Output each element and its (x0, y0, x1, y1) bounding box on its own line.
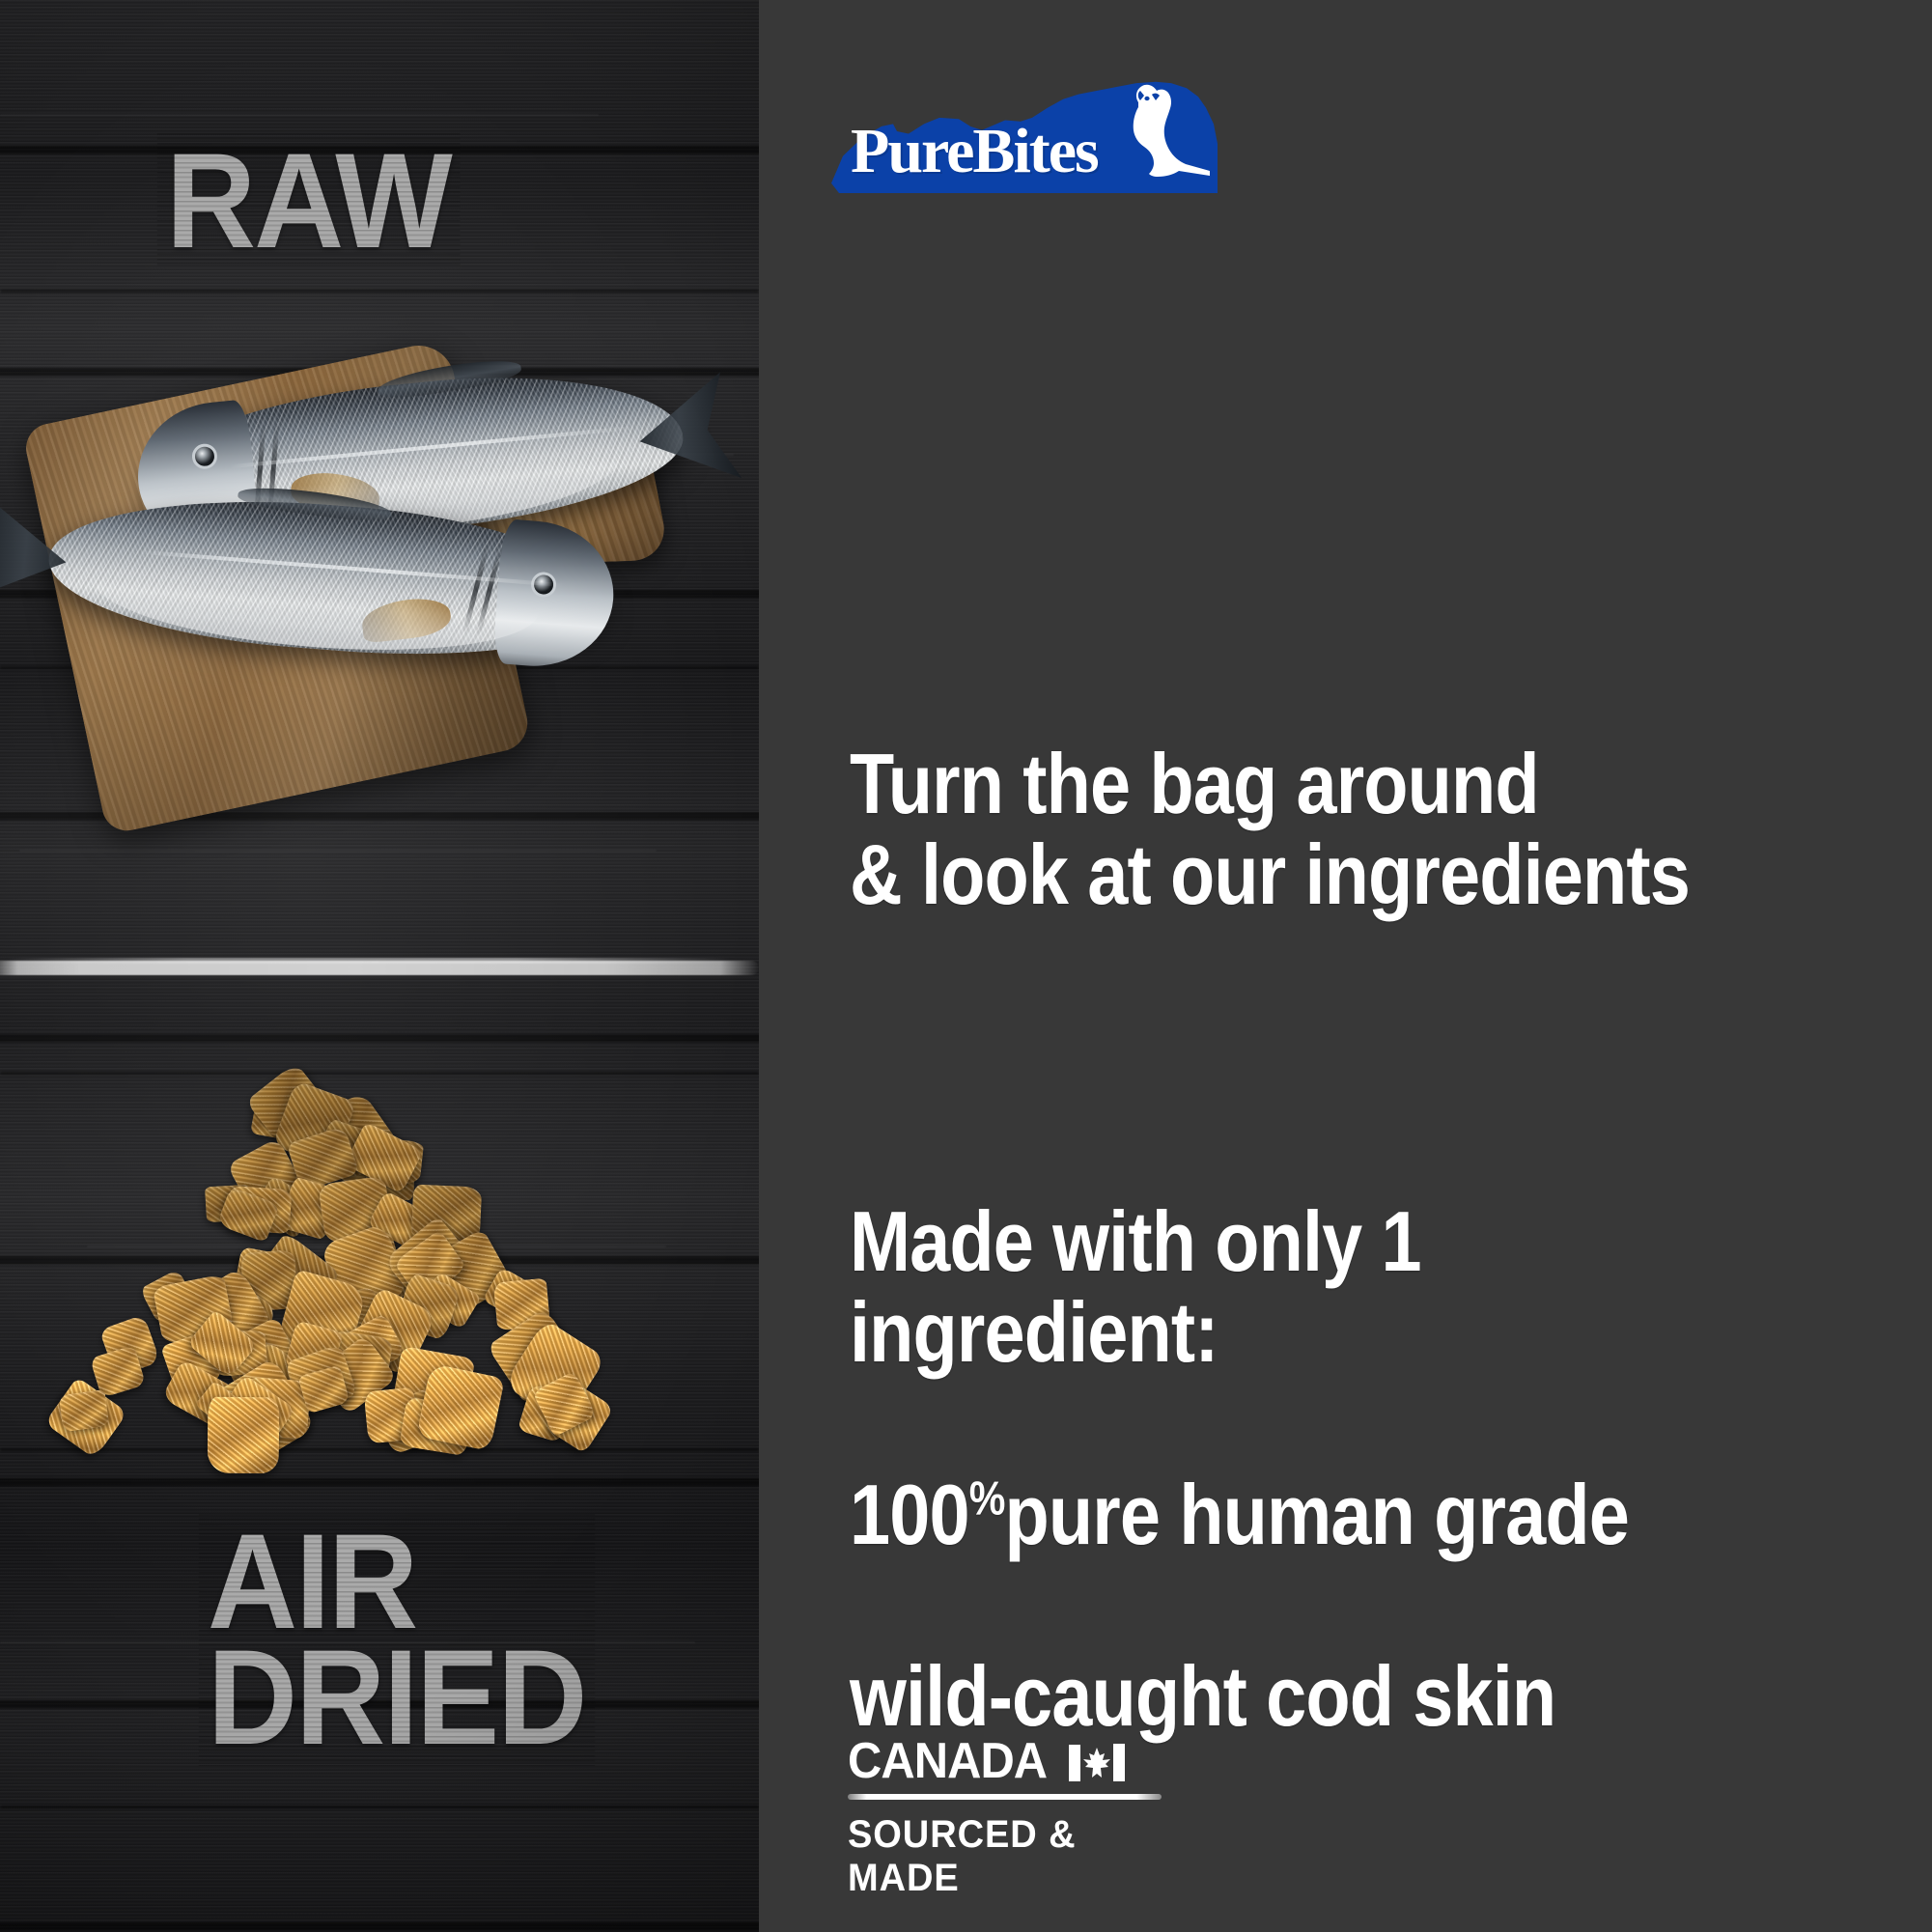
cod-skin-chunk (58, 1389, 109, 1432)
brush-stroke-divider (0, 961, 759, 975)
air-dried-label: AIR DRIED (208, 1524, 586, 1756)
air-dried-cod-skin-photo (53, 1057, 603, 1458)
headline-ingredient-line1: Made with only 1 ingredient: (850, 1193, 1421, 1380)
wood-plank-seam (0, 1806, 759, 1808)
canada-tagline: SOURCED & MADE (848, 1813, 1160, 1900)
canada-label: CANADA (848, 1738, 1047, 1785)
left-photo-panel: RAW (0, 0, 759, 1932)
canada-divider-rule (848, 1794, 1162, 1800)
headline-ingredient-line3: wild-caught cod skin (850, 1648, 1555, 1744)
headline-ingredient-line2: pure human grade (1005, 1467, 1629, 1562)
canada-badge: CANADA SOURCED & MADE (848, 1738, 1176, 1900)
right-content-panel: PureBites Turn the bag around & look at … (759, 0, 1932, 1932)
sitting-dog-icon (1096, 79, 1212, 187)
headline-turn-the-bag: Turn the bag around & look at our ingred… (850, 739, 1690, 920)
product-infographic: RAW (0, 0, 1932, 1932)
headline-percent-number: 100 (850, 1467, 969, 1562)
cod-skin-chunk (208, 1396, 279, 1472)
wood-grain-streak (19, 850, 657, 852)
wood-grain-streak (0, 114, 599, 116)
headline-percent-symbol: % (969, 1471, 1005, 1525)
logo-wordmark: PureBites (851, 120, 1098, 183)
canada-flag-icon (1069, 1744, 1125, 1782)
raw-fish-photo (39, 304, 753, 806)
headline-ingredient: Made with only 1 ingredient: 100%pure hu… (850, 1106, 1780, 1742)
cod-skin-chunk (416, 1363, 505, 1451)
purebites-logo[interactable]: PureBites (831, 70, 1218, 193)
raw-label: RAW (166, 143, 451, 259)
wood-plank-seam (0, 290, 759, 293)
